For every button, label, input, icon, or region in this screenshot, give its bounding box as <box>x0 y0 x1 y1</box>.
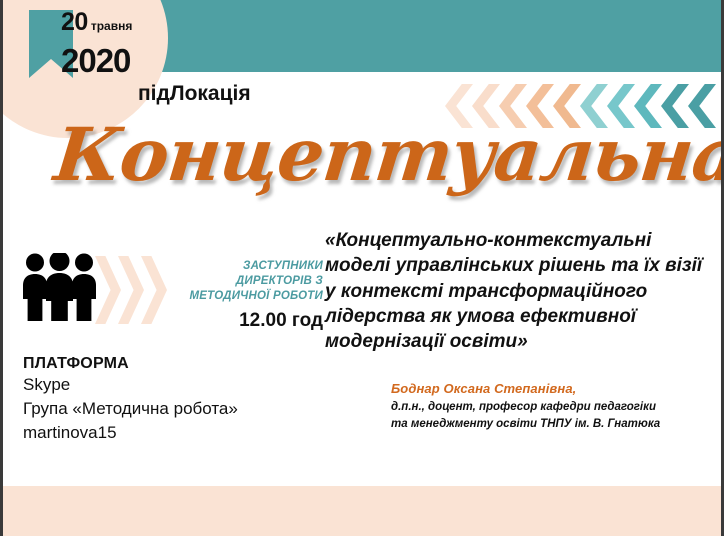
date-block: 20 травня 2020 <box>61 10 171 77</box>
chevron-right-icon-1 <box>95 256 121 324</box>
platform-line-2: Група «Методична робота» <box>23 397 238 421</box>
sublocation-label: підЛокація <box>138 82 251 106</box>
speaker-block: Боднар Оксана Степанівна, д.п.н., доцент… <box>391 381 721 432</box>
audience-line-3: МЕТОДИЧНОЇ РОБОТИ <box>158 289 323 304</box>
date-day-row: 20 травня <box>61 10 171 35</box>
platform-block: ПЛАТФОРМА Skype Група «Методична робота»… <box>23 355 238 445</box>
quote-text: «Концептуально-контекстуальні моделі упр… <box>325 228 715 354</box>
people-group-icon <box>21 253 99 321</box>
audience-line-2: ДИРЕКТОРІВ З <box>158 274 323 289</box>
bottom-peach-band <box>3 486 724 536</box>
platform-line-1: Skype <box>23 373 238 397</box>
audience-block: ЗАСТУПНИКИ ДИРЕКТОРІВ З МЕТОДИЧНОЇ РОБОТ… <box>158 259 323 332</box>
chevron-right-icon-2 <box>118 256 144 324</box>
platform-heading: ПЛАТФОРМА <box>23 355 238 373</box>
date-day: 20 <box>61 10 88 35</box>
platform-line-3: martinova15 <box>23 421 238 445</box>
speaker-name: Боднар Оксана Степанівна, <box>391 381 721 396</box>
audience-lines: ЗАСТУПНИКИ ДИРЕКТОРІВ З МЕТОДИЧНОЇ РОБОТ… <box>158 259 323 305</box>
event-time: 12.00 год <box>158 310 323 332</box>
date-year: 2020 <box>61 44 171 77</box>
speaker-role-line-1: д.п.н., доцент, професор кафедри педагог… <box>391 399 721 416</box>
date-month: травня <box>91 20 133 32</box>
audience-line-1: ЗАСТУПНИКИ <box>158 259 323 274</box>
presentation-slide: 20 травня 2020 підЛокація Концептуальна … <box>0 0 724 536</box>
speaker-role-line-2: та менеджменту освіти ТНПУ ім. В. Гнатюк… <box>391 416 721 433</box>
page-title: Концептуальна <box>50 112 724 198</box>
speaker-role: д.п.н., доцент, професор кафедри педагог… <box>391 399 721 432</box>
